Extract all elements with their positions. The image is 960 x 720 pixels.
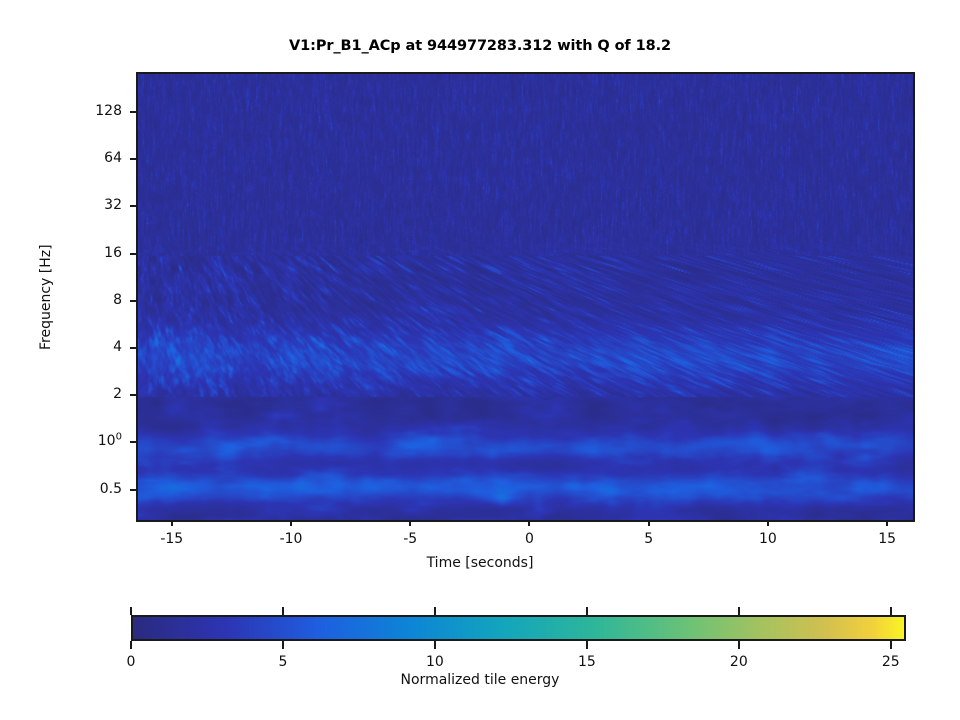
colorbar-tick-label: 20: [709, 655, 769, 669]
figure-title: V1:Pr_B1_ACp at 944977283.312 with Q of …: [0, 38, 960, 54]
x-axis-tick-label: 5: [619, 532, 679, 546]
y-axis-label: Frequency [Hz]: [38, 244, 54, 350]
x-axis-tick-label: 0: [499, 532, 559, 546]
x-axis-tick-mark: [409, 520, 411, 526]
x-axis-label: Time [seconds]: [0, 555, 960, 571]
colorbar-tick-mark-bottom: [434, 641, 436, 649]
colorbar-tick-label: 0: [101, 655, 161, 669]
colorbar-tick-label: 15: [557, 655, 617, 669]
colorbar-tick-mark-top: [434, 607, 436, 615]
x-axis-tick-mark: [886, 520, 888, 526]
colorbar-tick-mark-bottom: [586, 641, 588, 649]
y-axis-tick-label: 64: [50, 151, 122, 165]
x-axis-tick-label: 10: [738, 532, 798, 546]
colorbar-gradient: [133, 617, 904, 639]
y-axis-tick-mark: [130, 158, 136, 160]
spectrogram-axes: [136, 72, 915, 522]
y-axis-tick-mark: [130, 441, 136, 443]
figure-root: V1:Pr_B1_ACp at 944977283.312 with Q of …: [0, 0, 960, 720]
colorbar-label: Normalized tile energy: [0, 672, 960, 688]
y-axis-tick-mark: [130, 111, 136, 113]
y-axis-tick-label: 16: [50, 246, 122, 260]
colorbar-tick-mark-bottom: [282, 641, 284, 649]
x-axis-tick-mark: [528, 520, 530, 526]
x-axis-tick-label: 15: [857, 532, 917, 546]
y-axis-tick-mark: [130, 489, 136, 491]
x-axis-tick-mark: [290, 520, 292, 526]
colorbar-tick-mark-top: [738, 607, 740, 615]
colorbar-tick-mark-top: [890, 607, 892, 615]
y-axis-tick-label: 8: [50, 293, 122, 307]
x-axis-tick-mark: [767, 520, 769, 526]
y-axis-tick-mark: [130, 347, 136, 349]
x-axis-tick-mark: [171, 520, 173, 526]
x-axis-tick-label: -10: [261, 532, 321, 546]
y-axis-tick-mark: [130, 253, 136, 255]
colorbar-tick-label: 5: [253, 655, 313, 669]
y-axis-tick-label: 4: [50, 340, 122, 354]
colorbar-tick-mark-bottom: [890, 641, 892, 649]
colorbar-tick-label: 10: [405, 655, 465, 669]
y-axis-tick-label: 32: [50, 198, 122, 212]
colorbar-tick-mark-top: [282, 607, 284, 615]
spectrogram-image: [138, 74, 913, 520]
x-axis-tick-label: -5: [380, 532, 440, 546]
colorbar-tick-mark-top: [586, 607, 588, 615]
colorbar-tick-label: 25: [861, 655, 921, 669]
x-axis-tick-mark: [648, 520, 650, 526]
colorbar-tick-mark-bottom: [130, 641, 132, 649]
y-axis-tick-label: 128: [50, 104, 122, 118]
y-axis-tick-label: 100: [50, 434, 122, 448]
y-axis-tick-mark: [130, 300, 136, 302]
colorbar: [131, 615, 906, 641]
y-axis-tick-label: 0.5: [50, 482, 122, 496]
y-axis-tick-label: 2: [50, 387, 122, 401]
colorbar-tick-mark-bottom: [738, 641, 740, 649]
y-axis-tick-mark: [130, 205, 136, 207]
y-axis-tick-mark: [130, 394, 136, 396]
x-axis-tick-label: -15: [142, 532, 202, 546]
colorbar-tick-mark-top: [130, 607, 132, 615]
